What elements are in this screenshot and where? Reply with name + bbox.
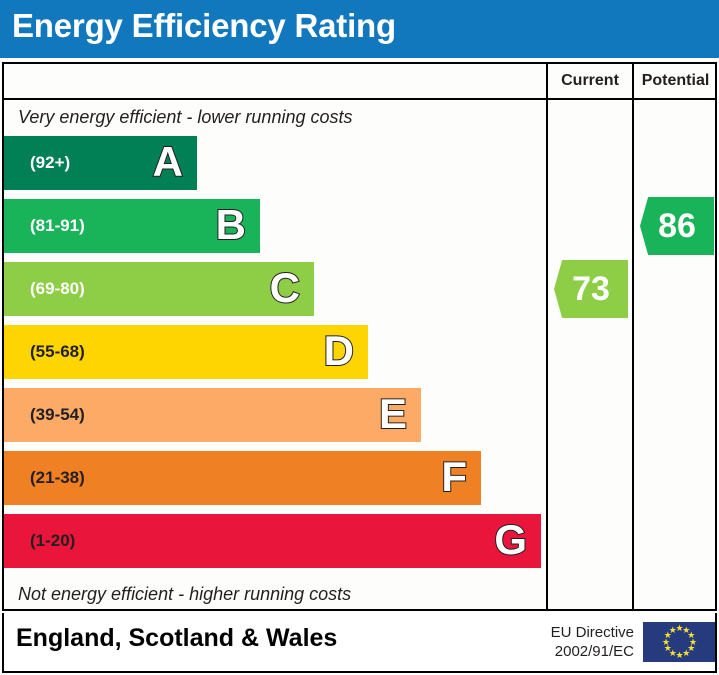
column-divider-1	[546, 100, 548, 609]
band-letter-e: E	[379, 388, 407, 442]
footer-directive-line2: 2002/91/EC	[524, 642, 634, 661]
footer-directive: EU Directive 2002/91/EC	[524, 623, 634, 661]
band-range-g: (1-20)	[30, 514, 75, 568]
band-range-a: (92+)	[30, 136, 70, 190]
band-range-e: (39-54)	[30, 388, 85, 442]
eu-star-icon: ★	[669, 627, 676, 634]
footer-directive-line1: EU Directive	[524, 623, 634, 642]
rating-current: 73	[554, 260, 628, 318]
band-letter-g: G	[494, 514, 527, 568]
column-header-potential: Potential	[632, 64, 717, 98]
band-bars-group: (92+)A(81-91)B(69-80)C(55-68)D(39-54)E(2…	[4, 136, 546, 577]
column-header-row: Current Potential	[4, 64, 715, 100]
band-bar-e: (39-54)E	[4, 388, 421, 442]
band-bar-b: (81-91)B	[4, 199, 260, 253]
band-letter-c: C	[270, 262, 300, 316]
rating-table: Current Potential Very energy efficient …	[2, 62, 717, 611]
footer: England, Scotland & Wales EU Directive 2…	[2, 613, 717, 673]
caption-efficient: Very energy efficient - lower running co…	[4, 100, 546, 134]
band-letter-d: D	[324, 325, 354, 379]
caption-inefficient: Not energy efficient - higher running co…	[4, 577, 546, 611]
band-bar-c: (69-80)C	[4, 262, 314, 316]
page-title: Energy Efficiency Rating	[12, 7, 396, 45]
band-letter-a: A	[153, 136, 183, 190]
column-divider-2	[632, 100, 634, 609]
band-bar-a: (92+)A	[4, 136, 197, 190]
footer-region-label: England, Scotland & Wales	[16, 624, 337, 653]
band-range-c: (69-80)	[30, 262, 85, 316]
band-letter-b: B	[216, 199, 246, 253]
band-letter-f: F	[441, 451, 467, 505]
energy-efficiency-rating-chart: Energy Efficiency Rating Current Potenti…	[0, 0, 719, 675]
band-range-d: (55-68)	[30, 325, 85, 379]
column-header-current: Current	[546, 64, 632, 98]
band-bar-d: (55-68)D	[4, 325, 368, 379]
band-bar-f: (21-38)F	[4, 451, 481, 505]
band-bar-g: (1-20)G	[4, 514, 541, 568]
title-bar: Energy Efficiency Rating	[0, 0, 719, 58]
band-range-f: (21-38)	[30, 451, 85, 505]
band-range-b: (81-91)	[30, 199, 85, 253]
eu-flag-icon: ★★★★★★★★★★★★	[643, 622, 715, 662]
rating-potential: 86	[640, 197, 714, 255]
